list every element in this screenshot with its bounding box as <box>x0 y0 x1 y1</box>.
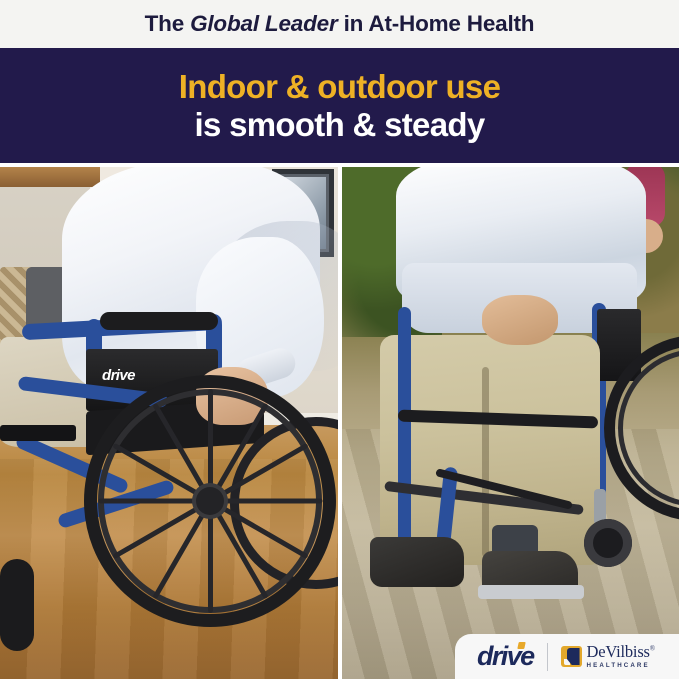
wheel-hub <box>196 487 224 515</box>
registered-mark: ® <box>650 644 655 652</box>
tagline-suffix: in At-Home Health <box>338 11 535 36</box>
wheelchair-front-caster <box>0 559 34 651</box>
photo-divider <box>338 167 342 679</box>
logo-divider <box>547 643 548 671</box>
ceiling-beam <box>0 167 100 187</box>
tagline-text: The Global Leader in At-Home Health <box>145 11 535 37</box>
devilbiss-lockup: DeVilbiss® HEALTHCARE <box>561 644 655 669</box>
photo-indoor-wheelchair: drive <box>0 167 338 679</box>
chair-brand-label: drive <box>102 367 135 384</box>
tagline-bar: The Global Leader in At-Home Health <box>0 0 679 48</box>
brand-logo-badge: drive DeVilbiss® HEALTHCARE <box>455 634 679 679</box>
outdoor-chair-footplate <box>478 585 584 599</box>
headline-line-2: is smooth & steady <box>195 107 485 143</box>
trouser-seam <box>482 367 489 557</box>
wheelchair-footplate <box>0 425 76 441</box>
outdoor-chair-front-caster <box>584 519 632 567</box>
right-subject-hands <box>482 295 558 345</box>
photo-outdoor-wheelchair <box>342 167 679 679</box>
drive-accent-dot-icon <box>517 642 525 649</box>
photo-row: drive <box>0 167 679 679</box>
devilbiss-name-text: DeVilbiss <box>587 642 650 661</box>
right-subject-trousers <box>380 335 600 565</box>
drive-wordmark: drive <box>477 643 534 670</box>
headline-band: Indoor & outdoor use is smooth & steady <box>0 48 679 163</box>
headline-line-1: Indoor & outdoor use <box>179 69 500 105</box>
devilbiss-mark-icon <box>561 646 582 667</box>
devilbiss-text-block: DeVilbiss® HEALTHCARE <box>587 644 655 669</box>
tagline-emphasis: Global Leader <box>190 11 337 36</box>
drive-wordmark-text: drive <box>477 641 534 671</box>
tagline-prefix: The <box>145 11 190 36</box>
marketing-banner: The Global Leader in At-Home Health Indo… <box>0 0 679 679</box>
right-subject-shoe-left <box>370 537 464 587</box>
wheelchair-armrest-pad <box>100 312 218 330</box>
devilbiss-subtitle: HEALTHCARE <box>587 663 655 669</box>
outdoor-chair-frame-left <box>398 307 411 547</box>
devilbiss-name: DeVilbiss® <box>587 644 655 661</box>
